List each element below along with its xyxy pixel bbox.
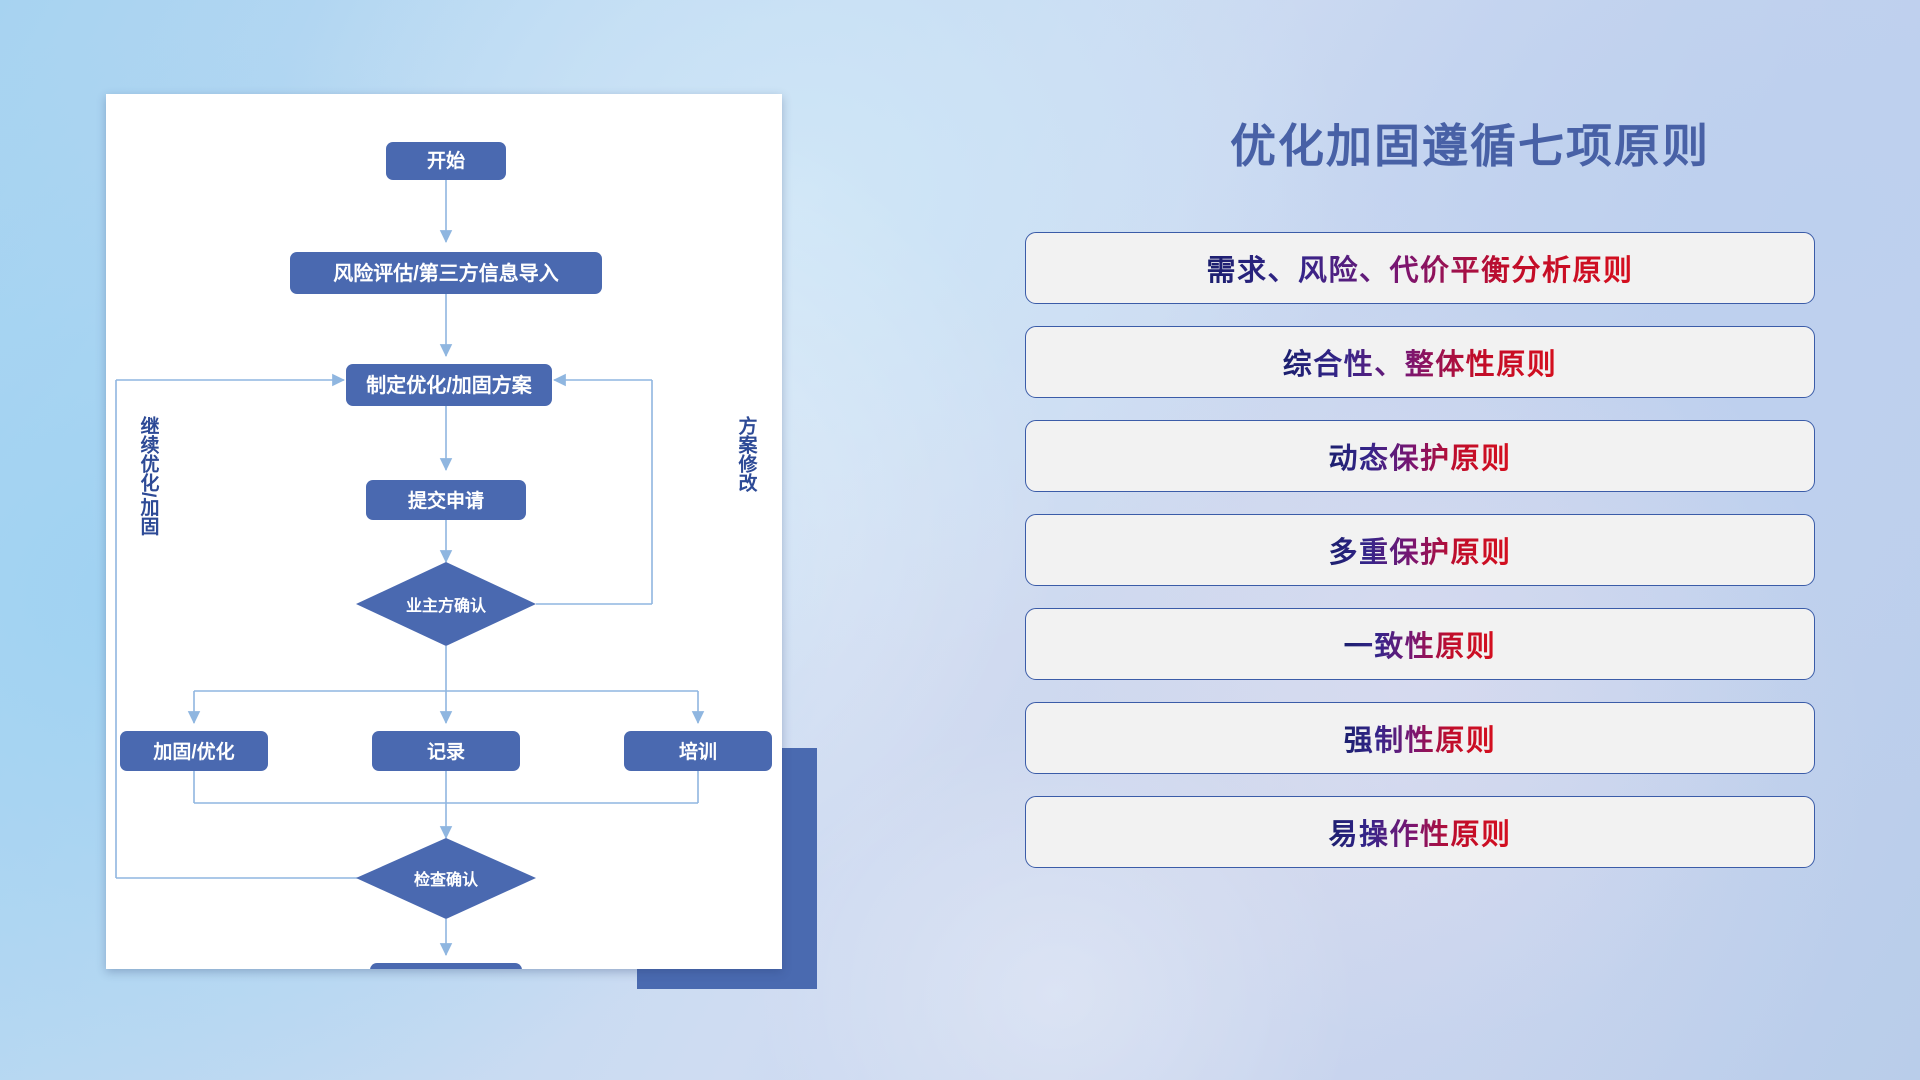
- flow-edge-label-left: 继续优化/加固: [138, 415, 161, 536]
- flow-node-reinforce[interactable]: 加固/优化: [120, 731, 268, 771]
- principle-card-7[interactable]: 易操作性原则: [1025, 796, 1815, 868]
- principle-card-5[interactable]: 一致性原则: [1025, 608, 1815, 680]
- flow-node-risk-assessment-label: 风险评估/第三方信息导入: [333, 261, 559, 285]
- flow-node-start-label: 开始: [427, 149, 465, 172]
- principles-panel: 优化加固遵循七项原则 需求、风险、代价平衡分析原则 综合性、整体性原则 动态保护…: [1020, 0, 1920, 1080]
- principle-card-6[interactable]: 强制性原则: [1025, 702, 1815, 774]
- flow-node-check-confirm-label: 检查确认: [414, 870, 479, 889]
- principle-card-4[interactable]: 多重保护原则: [1025, 514, 1815, 586]
- flow-node-plan[interactable]: 制定优化/加固方案: [346, 364, 552, 406]
- principle-card-label: 易操作性原则: [1328, 811, 1511, 853]
- flow-node-risk-assessment[interactable]: 风险评估/第三方信息导入: [290, 252, 602, 294]
- principle-card-label: 综合性、整体性原则: [1283, 341, 1558, 383]
- flowchart-diagram: 开始 风险评估/第三方信息导入 制定优化/加固方案 提交申请 业主方确认 加固/…: [106, 94, 782, 969]
- principle-card-label: 多重保护原则: [1328, 529, 1511, 571]
- flow-node-record[interactable]: 记录: [372, 731, 520, 771]
- flow-node-training[interactable]: 培训: [624, 731, 772, 771]
- flow-node-owner-confirm[interactable]: 业主方确认: [356, 562, 536, 646]
- flow-node-submit[interactable]: 提交申请: [366, 480, 526, 520]
- principle-card-3[interactable]: 动态保护原则: [1025, 420, 1815, 492]
- principle-card-label: 动态保护原则: [1328, 435, 1511, 477]
- page-title: 优化加固遵循七项原则: [1150, 110, 1790, 176]
- flow-node-check-confirm[interactable]: 检查确认: [356, 838, 536, 919]
- flowchart-card: 开始 风险评估/第三方信息导入 制定优化/加固方案 提交申请 业主方确认 加固/…: [106, 94, 782, 969]
- principle-card-1[interactable]: 需求、风险、代价平衡分析原则: [1025, 232, 1815, 304]
- flow-node-owner-confirm-label: 业主方确认: [406, 596, 487, 615]
- principle-card-label: 强制性原则: [1344, 717, 1497, 759]
- flow-node-report[interactable]: 生成报告: [370, 963, 522, 969]
- flow-node-plan-label: 制定优化/加固方案: [366, 373, 533, 397]
- principles-list: 需求、风险、代价平衡分析原则 综合性、整体性原则 动态保护原则 多重保护原则 一…: [1025, 232, 1815, 890]
- flow-node-training-label: 培训: [679, 740, 717, 763]
- flow-node-record-label: 记录: [427, 741, 465, 763]
- principle-card-label: 需求、风险、代价平衡分析原则: [1206, 247, 1633, 289]
- principle-card-2[interactable]: 综合性、整体性原则: [1025, 326, 1815, 398]
- flow-node-submit-label: 提交申请: [408, 489, 484, 512]
- flow-edge-label-right: 方案修改: [736, 415, 759, 493]
- flow-node-reinforce-label: 加固/优化: [152, 740, 234, 763]
- flow-node-start[interactable]: 开始: [386, 142, 506, 180]
- principle-card-label: 一致性原则: [1344, 623, 1497, 665]
